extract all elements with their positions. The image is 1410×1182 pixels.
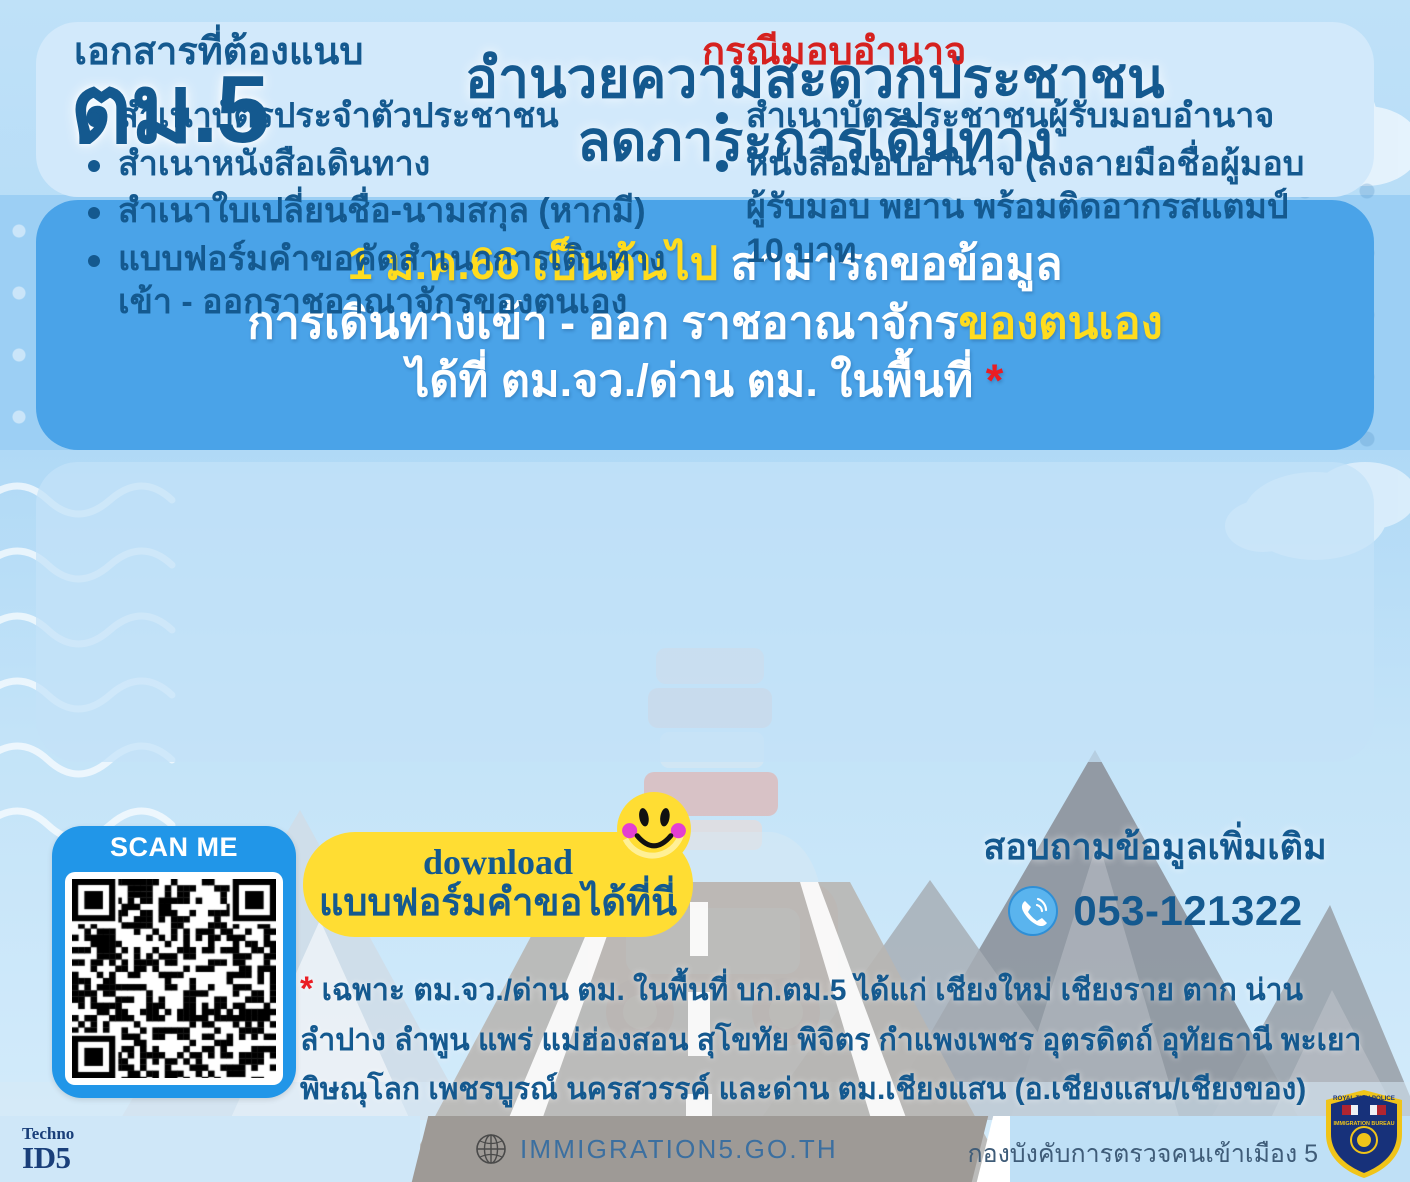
footnote-line-1-text: เฉพาะ ตม.จว./ด่าน ตม. ในพื้นที่ บก.ตม.5 …	[322, 974, 1303, 1007]
website-text: IMMIGRATION5.GO.TH	[520, 1134, 838, 1165]
contact-block: สอบถามข้อมูลเพิ่มเติม 053-121322	[975, 818, 1335, 937]
smiley-face-icon	[612, 787, 696, 871]
proxy-title: กรณีมอบอำนาจ	[702, 20, 1320, 81]
footnote-block: * เฉพาะ ตม.จว./ด่าน ตม. ในพื้นที่ บก.ตม.…	[300, 962, 1360, 1114]
documents-list: สำเนาบัตรประจำตัวประชาชน สำเนาหนังสือเดิ…	[72, 95, 712, 325]
bullet-icon	[716, 160, 728, 172]
proxy-item-line-3: 10 บาท	[746, 230, 1320, 274]
footnote-asterisk: *	[300, 970, 313, 1008]
globe-icon	[474, 1132, 508, 1166]
list-item: แบบฟอร์มคำขอคัดสำเนาการเดินทาง เข้า - ออ…	[118, 238, 712, 325]
documents-title: เอกสารที่ต้องแนบ	[74, 20, 712, 81]
notice-self-highlight: ของตนเอง	[959, 297, 1163, 348]
badge-top-text: ROYAL THAI POLICE	[1333, 1095, 1395, 1102]
contact-phone-row[interactable]: 053-121322	[975, 885, 1335, 937]
bullet-icon	[88, 160, 100, 172]
qr-code-frame	[65, 872, 283, 1085]
bullet-icon	[716, 112, 728, 124]
scan-me-label: SCAN ME	[52, 832, 296, 863]
list-item: หนังสือมอบอำนาจ (ลงลายมือชื่อผู้มอบ ผู้ร…	[746, 143, 1320, 274]
list-item-label: หนังสือมอบอำนาจ (ลงลายมือชื่อผู้มอบ	[746, 145, 1304, 183]
bullet-icon	[88, 112, 100, 124]
proxy-column: กรณีมอบอำนาจ สำเนาบัตรประชาชนผู้รับมอบอำ…	[700, 20, 1320, 277]
contact-title: สอบถามข้อมูลเพิ่มเติม	[975, 818, 1335, 875]
poster-root: ตม.5 อำนวยความสะดวกประชาชน ลดภาระการเดิน…	[0, 0, 1410, 1182]
list-item: สำเนาบัตรประจำตัวประชาชน	[118, 95, 712, 139]
notice-line-3-main: ได้ที่ ตม.จว./ด่าน ตม. ในพื้นที่	[407, 355, 974, 406]
notice-asterisk: *	[986, 355, 1004, 406]
download-label-th: แบบฟอร์มคำขอได้ที่นี่	[319, 882, 677, 926]
content-card	[36, 462, 1374, 762]
list-item-label: สำเนาบัตรประจำตัวประชาชน	[118, 97, 559, 135]
list-item-label: แบบฟอร์มคำขอคัดสำเนาการเดินทาง	[118, 240, 665, 278]
list-item-continuation: เข้า - ออกราชอาณาจักรของตนเอง	[118, 281, 712, 325]
proxy-list: สำเนาบัตรประชาชนผู้รับมอบอำนาจ หนังสือมอ…	[700, 95, 1320, 273]
list-item: สำเนาใบเปลี่ยนชื่อ-นามสกุล (หากมี)	[118, 190, 712, 234]
bullet-icon	[88, 255, 100, 267]
footnote-line-3: พิษณุโลก เพชรบูรณ์ นครสวรรค์ และด่าน ตม.…	[300, 1066, 1360, 1115]
list-item: สำเนาบัตรประชาชนผู้รับมอบอำนาจ	[746, 95, 1320, 139]
badge-mid-text: IMMIGRATION BUREAU	[1334, 1121, 1395, 1127]
department-name: กองบังคับการตรวจคนเข้าเมือง 5	[967, 1134, 1318, 1174]
list-item-label: สำเนาใบเปลี่ยนชื่อ-นามสกุล (หากมี)	[118, 192, 646, 230]
footnote-line-2: ลำปาง ลำพูน แพร่ แม่ฮ่องสอน สุโขทัย พิจิ…	[300, 1017, 1360, 1066]
phone-icon	[1007, 885, 1059, 937]
phone-number: 053-121322	[1073, 887, 1302, 935]
qr-code-image[interactable]	[72, 879, 276, 1078]
documents-column: เอกสารที่ต้องแนบ สำเนาบัตรประจำตัวประชาช…	[72, 20, 712, 329]
website-link[interactable]: IMMIGRATION5.GO.TH	[474, 1132, 838, 1166]
footnote-line-1: * เฉพาะ ตม.จว./ด่าน ตม. ในพื้นที่ บก.ตม.…	[300, 962, 1360, 1017]
download-label-en: download	[423, 844, 573, 880]
royal-thai-police-badge-icon: ROYAL THAI POLICE IMMIGRATION BUREAU	[1322, 1088, 1406, 1180]
list-item-label: สำเนาหนังสือเดินทาง	[118, 145, 430, 183]
qr-code-panel[interactable]: SCAN ME	[52, 826, 296, 1098]
footer-bar: Techno ID5 IMMIGRATION5.GO.TH กองบังคับก…	[0, 1116, 1410, 1182]
bullet-icon	[88, 207, 100, 219]
id5-label: ID5	[22, 1142, 74, 1174]
list-item: สำเนาหนังสือเดินทาง	[118, 143, 712, 187]
list-item-label: สำเนาบัตรประชาชนผู้รับมอบอำนาจ	[746, 97, 1274, 135]
proxy-item-line-2: ผู้รับมอบ พยาน พร้อมติดอากรสแตมป์	[746, 186, 1320, 230]
techno-id5-logo: Techno ID5	[22, 1125, 74, 1174]
notice-line-3: ได้ที่ ตม.จว./ด่าน ตม. ในพื้นที่ *	[407, 352, 1004, 411]
